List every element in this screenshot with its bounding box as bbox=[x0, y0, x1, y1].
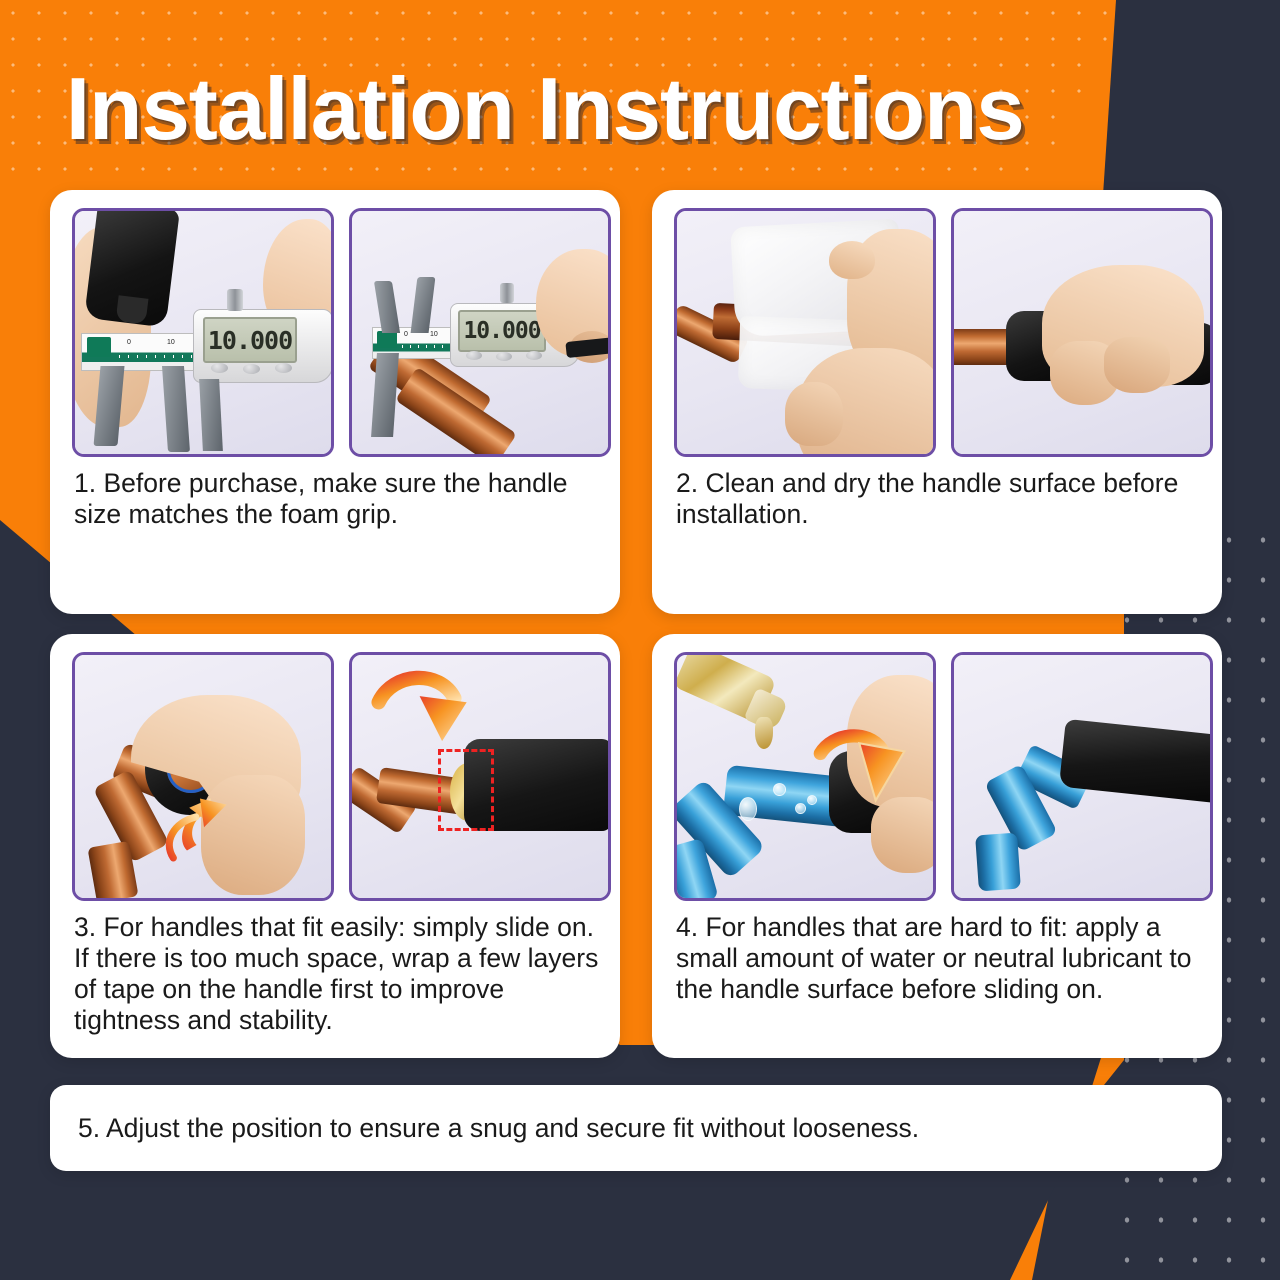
photo-applying-lubricant-to-blue-tube bbox=[674, 652, 936, 901]
step-4-caption: 4. For handles that are hard to fit: app… bbox=[676, 912, 1204, 1005]
step-2-photo-row bbox=[674, 208, 1213, 457]
photo-foam-tube-joint-closeup bbox=[349, 652, 611, 901]
step-1-photo-row: 0 10 20 10.000 bbox=[72, 208, 611, 457]
photo-wiping-handle-with-tissue bbox=[674, 208, 936, 457]
step-1-caption: 1. Before purchase, make sure the handle… bbox=[74, 468, 602, 530]
step-card-5: 5. Adjust the position to ensure a snug … bbox=[50, 1085, 1222, 1171]
step-card-3: 3. For handles that fit easily: simply s… bbox=[50, 634, 620, 1058]
step-card-4: 4. For handles that are hard to fit: app… bbox=[652, 634, 1222, 1058]
caliper-lcd-value-1: 10.000 bbox=[208, 326, 292, 355]
step-2-caption: 2. Clean and dry the handle surface befo… bbox=[676, 468, 1204, 530]
step-card-1: 0 10 20 10.000 bbox=[50, 190, 620, 614]
page-title: Installation Instructions bbox=[66, 56, 1234, 162]
step-3-caption: 3. For handles that fit easily: simply s… bbox=[74, 912, 602, 1036]
infographic-canvas: Installation Instructions 0 bbox=[0, 0, 1280, 1280]
photo-caliper-measuring-copper-tube: 0 10 20 10.000 bbox=[349, 208, 611, 457]
photo-foam-grip-installed-blue-tube bbox=[951, 652, 1213, 901]
photo-hand-gripping-installed-foam bbox=[951, 208, 1213, 457]
step-4-photo-row bbox=[674, 652, 1213, 901]
step-card-2: 2. Clean and dry the handle surface befo… bbox=[652, 190, 1222, 614]
step-5-caption: 5. Adjust the position to ensure a snug … bbox=[78, 1085, 1204, 1171]
step-3-photo-row bbox=[72, 652, 611, 901]
photo-sliding-foam-onto-copper-tube bbox=[72, 652, 334, 901]
photo-caliper-measuring-foam-grip: 0 10 20 10.000 bbox=[72, 208, 334, 457]
caliper-lcd-value-2: 10.000 bbox=[463, 318, 540, 344]
